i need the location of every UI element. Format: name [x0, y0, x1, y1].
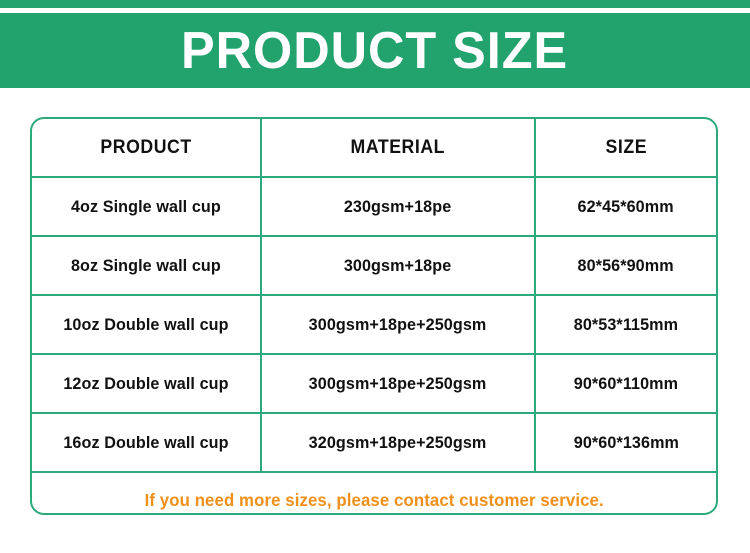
cell-product-text: 4oz Single wall cup: [71, 197, 221, 217]
column-header-size: SIZE: [535, 119, 716, 177]
product-size-infographic: PRODUCT SIZE PRODUCT MATERIAL SIZE: [0, 0, 750, 553]
cell-material-text: 300gsm+18pe+250gsm: [309, 374, 487, 394]
top-accent-strip: [0, 0, 750, 8]
cell-material-text: 230gsm+18pe: [344, 197, 451, 217]
column-header-product: PRODUCT: [32, 119, 261, 177]
cell-material: 230gsm+18pe: [261, 177, 535, 236]
cell-product: 8oz Single wall cup: [32, 236, 261, 295]
cell-product: 16oz Double wall cup: [32, 413, 261, 472]
cell-size: 90*60*136mm: [535, 413, 716, 472]
table-footer-row: If you need more sizes, please contact c…: [32, 472, 716, 515]
cell-material: 300gsm+18pe+250gsm: [261, 295, 535, 354]
cell-size-text: 80*53*115mm: [574, 315, 678, 335]
cell-size: 80*56*90mm: [535, 236, 716, 295]
cell-product: 12oz Double wall cup: [32, 354, 261, 413]
table-header: PRODUCT MATERIAL SIZE: [32, 119, 716, 177]
cell-product-text: 10oz Double wall cup: [63, 315, 228, 335]
cell-footer-note: If you need more sizes, please contact c…: [32, 472, 716, 515]
column-header-material-label: MATERIAL: [351, 137, 445, 159]
page-title: PRODUCT SIZE: [181, 25, 568, 77]
cell-material-text: 320gsm+18pe+250gsm: [309, 433, 487, 453]
cell-size: 90*60*110mm: [535, 354, 716, 413]
cell-size-text: 90*60*110mm: [574, 374, 678, 394]
cell-size: 80*53*115mm: [535, 295, 716, 354]
cell-material: 300gsm+18pe: [261, 236, 535, 295]
table-row: 12oz Double wall cup 300gsm+18pe+250gsm …: [32, 354, 716, 413]
product-size-table: PRODUCT MATERIAL SIZE 4oz Single wall cu…: [32, 119, 716, 515]
cell-size-text: 62*45*60mm: [578, 197, 674, 217]
cell-material: 300gsm+18pe+250gsm: [261, 354, 535, 413]
cell-material-text: 300gsm+18pe: [344, 256, 451, 276]
column-header-product-label: PRODUCT: [100, 137, 191, 159]
cell-size: 62*45*60mm: [535, 177, 716, 236]
table-body: 4oz Single wall cup 230gsm+18pe 62*45*60…: [32, 177, 716, 515]
cell-product: 4oz Single wall cup: [32, 177, 261, 236]
cell-size-text: 80*56*90mm: [578, 256, 674, 276]
cell-product-text: 16oz Double wall cup: [63, 433, 228, 453]
cell-product-text: 12oz Double wall cup: [63, 374, 228, 394]
table-row: 8oz Single wall cup 300gsm+18pe 80*56*90…: [32, 236, 716, 295]
cell-product-text: 8oz Single wall cup: [71, 256, 221, 276]
table-row: 16oz Double wall cup 320gsm+18pe+250gsm …: [32, 413, 716, 472]
cell-size-text: 90*60*136mm: [573, 433, 678, 453]
cell-product: 10oz Double wall cup: [32, 295, 261, 354]
column-header-size-label: SIZE: [605, 137, 647, 159]
table-row: 4oz Single wall cup 230gsm+18pe 62*45*60…: [32, 177, 716, 236]
column-header-material: MATERIAL: [261, 119, 535, 177]
footer-note-text: If you need more sizes, please contact c…: [144, 490, 603, 511]
cell-material-text: 300gsm+18pe+250gsm: [309, 315, 487, 335]
header-banner: PRODUCT SIZE: [0, 13, 750, 88]
cell-material: 320gsm+18pe+250gsm: [261, 413, 535, 472]
size-table-card: PRODUCT MATERIAL SIZE 4oz Single wall cu…: [30, 117, 718, 515]
table-row: 10oz Double wall cup 300gsm+18pe+250gsm …: [32, 295, 716, 354]
table-header-row: PRODUCT MATERIAL SIZE: [32, 119, 716, 177]
